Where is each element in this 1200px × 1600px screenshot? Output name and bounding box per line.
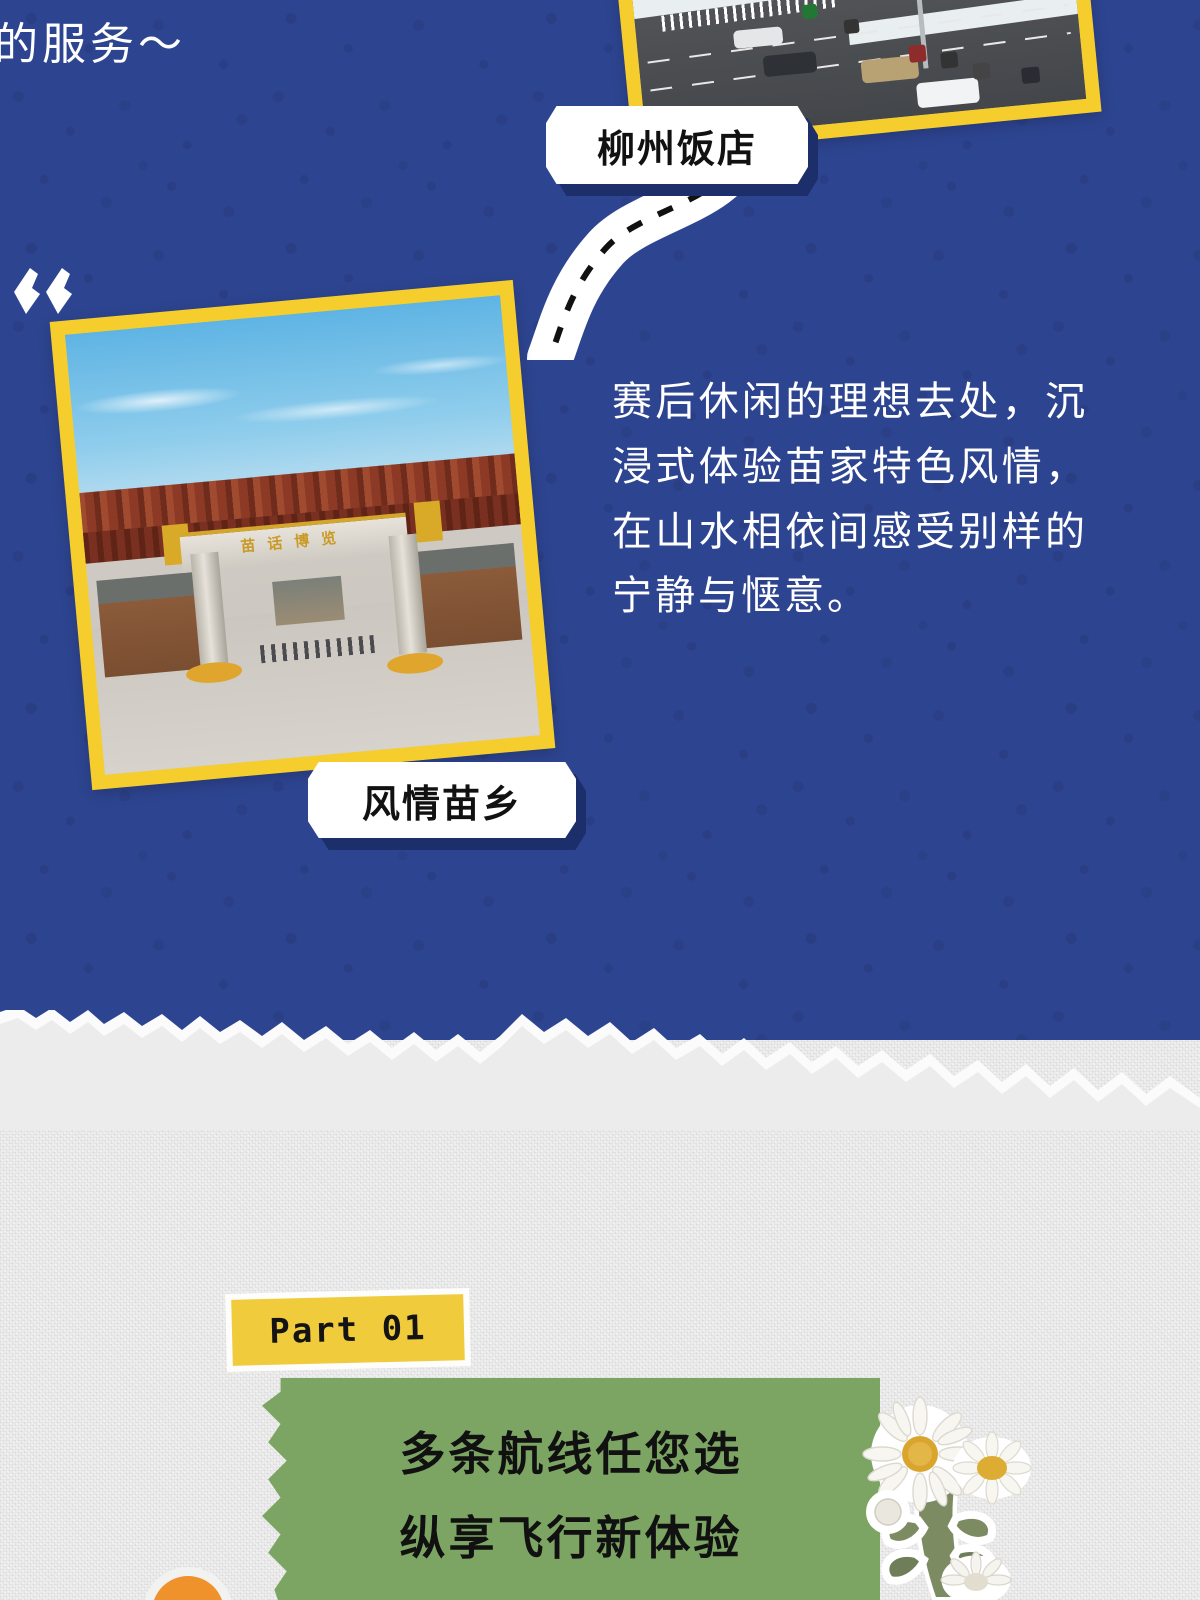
body-paragraph: 赛后休闲的理想去处，沉浸式体验苗家特色风情，在山水相依间感受别样的宁静与惬意。 — [612, 370, 1088, 629]
quote-marks-icon — [8, 262, 78, 318]
daisy-flower-icon — [858, 1392, 1048, 1600]
photo-tag-miao-village[interactable]: 风情苗乡 — [308, 762, 576, 838]
poster-canvas: 的服务～ — [0, 0, 1200, 1600]
photo-tag-liuzhou-hotel[interactable]: 柳州饭店 — [546, 106, 808, 184]
page-title: 的服务～ — [0, 8, 186, 72]
section-banner-text: 多条航线任您选 纵享飞行新体验 — [262, 1378, 880, 1600]
banner-line-1: 多条航线任您选 — [400, 1418, 743, 1484]
part-badge-label: Part 01 — [269, 1308, 427, 1352]
part-badge: Part 01 — [231, 1294, 465, 1366]
photo-card-miao-gateway[interactable]: 苗话博览 — [50, 280, 556, 790]
banner-line-2: 纵享飞行新体验 — [400, 1502, 743, 1568]
photo-image-gateway: 苗话博览 — [65, 295, 540, 775]
